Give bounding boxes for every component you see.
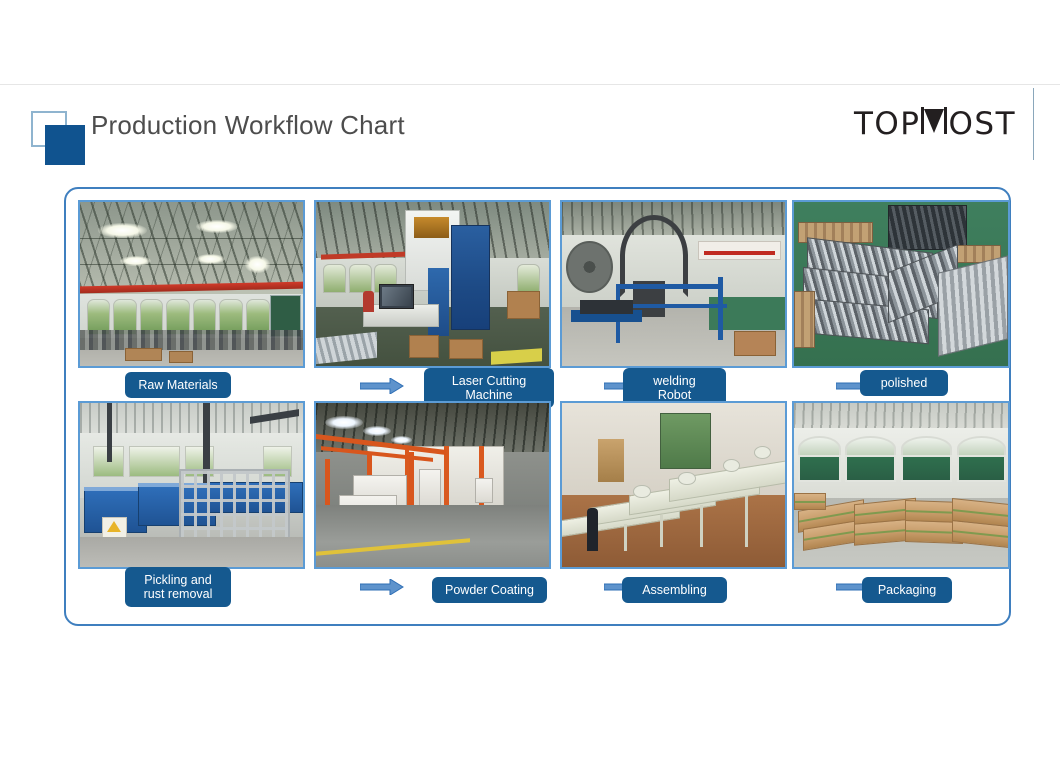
page-title: Production Workflow Chart	[91, 110, 405, 141]
brand-m-right-bar	[944, 107, 947, 134]
workflow-step-polished[interactable]: polished	[792, 200, 1012, 405]
step-label-raw-materials[interactable]: Raw Materials	[125, 372, 231, 398]
logo-solid-square	[45, 125, 85, 165]
workflow-row-1: Raw Materials	[66, 200, 1013, 405]
workflow-step-pickling-and-rust-removal[interactable]: Pickling and rust removal	[78, 401, 308, 606]
brand-wordmark: TOP OST	[854, 106, 1016, 142]
brand-text-right: OST	[948, 106, 1016, 142]
workflow-step-powder-coating[interactable]: Powder Coating	[314, 401, 554, 606]
step-label-packaging[interactable]: Packaging	[862, 577, 952, 603]
step-photo-assembling	[560, 401, 787, 569]
step-label-pickling-and-rust-removal[interactable]: Pickling and rust removal	[125, 567, 231, 607]
squares-logo-icon	[31, 111, 87, 165]
workflow-row-2: Pickling and rust removal	[66, 401, 1013, 606]
page-header: Production Workflow Chart TOP OST	[0, 0, 1060, 185]
step-photo-packaging	[792, 401, 1010, 569]
workflow-step-assembling[interactable]: Assembling	[560, 401, 790, 606]
workflow-step-laser-cutting-machine[interactable]: Laser Cutting Machine	[314, 200, 554, 405]
brand-m-glyph-icon	[921, 107, 947, 134]
workflow-panel: Raw Materials	[64, 187, 1011, 626]
brand-logo: TOP OST	[854, 104, 1016, 144]
step-photo-powder-coating	[314, 401, 551, 569]
brand-vertical-divider	[1033, 88, 1034, 160]
step-photo-welding-robot	[560, 200, 787, 368]
header-divider-rule	[0, 84, 1060, 85]
workflow-step-raw-materials[interactable]: Raw Materials	[78, 200, 308, 405]
step-label-powder-coating[interactable]: Powder Coating	[432, 577, 547, 603]
workflow-step-packaging[interactable]: Packaging	[792, 401, 1012, 606]
step-photo-polished	[792, 200, 1010, 368]
step-label-polished[interactable]: polished	[860, 370, 948, 396]
step-photo-pickling-and-rust-removal	[78, 401, 305, 569]
brand-m-vee	[924, 109, 944, 133]
step-photo-raw-materials	[78, 200, 305, 368]
brand-text-left: TOP	[854, 106, 921, 142]
workflow-step-welding-robot[interactable]: welding Robot	[560, 200, 790, 405]
step-label-assembling[interactable]: Assembling	[622, 577, 727, 603]
step-photo-laser-cutting-machine	[314, 200, 551, 368]
